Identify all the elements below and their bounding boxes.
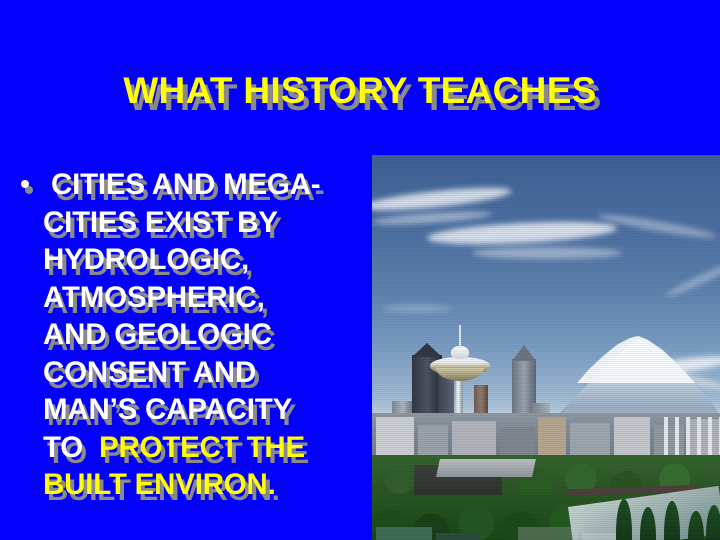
bullet-line: AND GEOLOGIC bbox=[43, 318, 272, 351]
white-roof bbox=[436, 459, 536, 477]
page-title: WHAT HISTORY TEACHES bbox=[0, 72, 720, 109]
presentation-slide: WHAT HISTORY TEACHES CITIES AND MEGA- CI… bbox=[0, 0, 720, 540]
bullet-line-highlighted-b: BUILT ENVIRON. bbox=[43, 468, 276, 501]
bullet-line-highlighted-a: TO PROTECT THE bbox=[43, 431, 305, 464]
bullet-text: CITIES AND MEGA- CITIES EXIST BY HYDROLO… bbox=[43, 166, 370, 504]
building-spire bbox=[512, 345, 536, 361]
bullet-line: CITIES AND MEGA- bbox=[43, 168, 320, 201]
bullet-point-icon bbox=[21, 180, 29, 188]
building-spire bbox=[412, 343, 442, 357]
foreground-structure bbox=[436, 533, 480, 540]
bullet-line: ATMOSPHERIC, bbox=[43, 281, 265, 314]
bullet-line-prefix: TO bbox=[43, 431, 99, 464]
bullet-line: CITIES EXIST BY bbox=[43, 206, 278, 239]
bullet-line: MAN’S CAPACITY bbox=[43, 393, 292, 426]
bullet-line: HYDROLOGIC, bbox=[43, 243, 249, 276]
highlight-text-protect: PROTECT THE bbox=[99, 431, 305, 464]
foreground-structure bbox=[518, 527, 578, 540]
content-bullet-list: CITIES AND MEGA- CITIES EXIST BY HYDROLO… bbox=[10, 166, 370, 504]
space-needle-spire bbox=[459, 325, 461, 348]
arched-structure bbox=[664, 417, 720, 457]
seattle-skyline-photo bbox=[372, 155, 720, 540]
list-item: CITIES AND MEGA- CITIES EXIST BY HYDROLO… bbox=[10, 166, 370, 504]
foreground-structure bbox=[376, 527, 432, 540]
cloud bbox=[472, 247, 622, 259]
bullet-line: CONSENT AND bbox=[43, 356, 256, 389]
